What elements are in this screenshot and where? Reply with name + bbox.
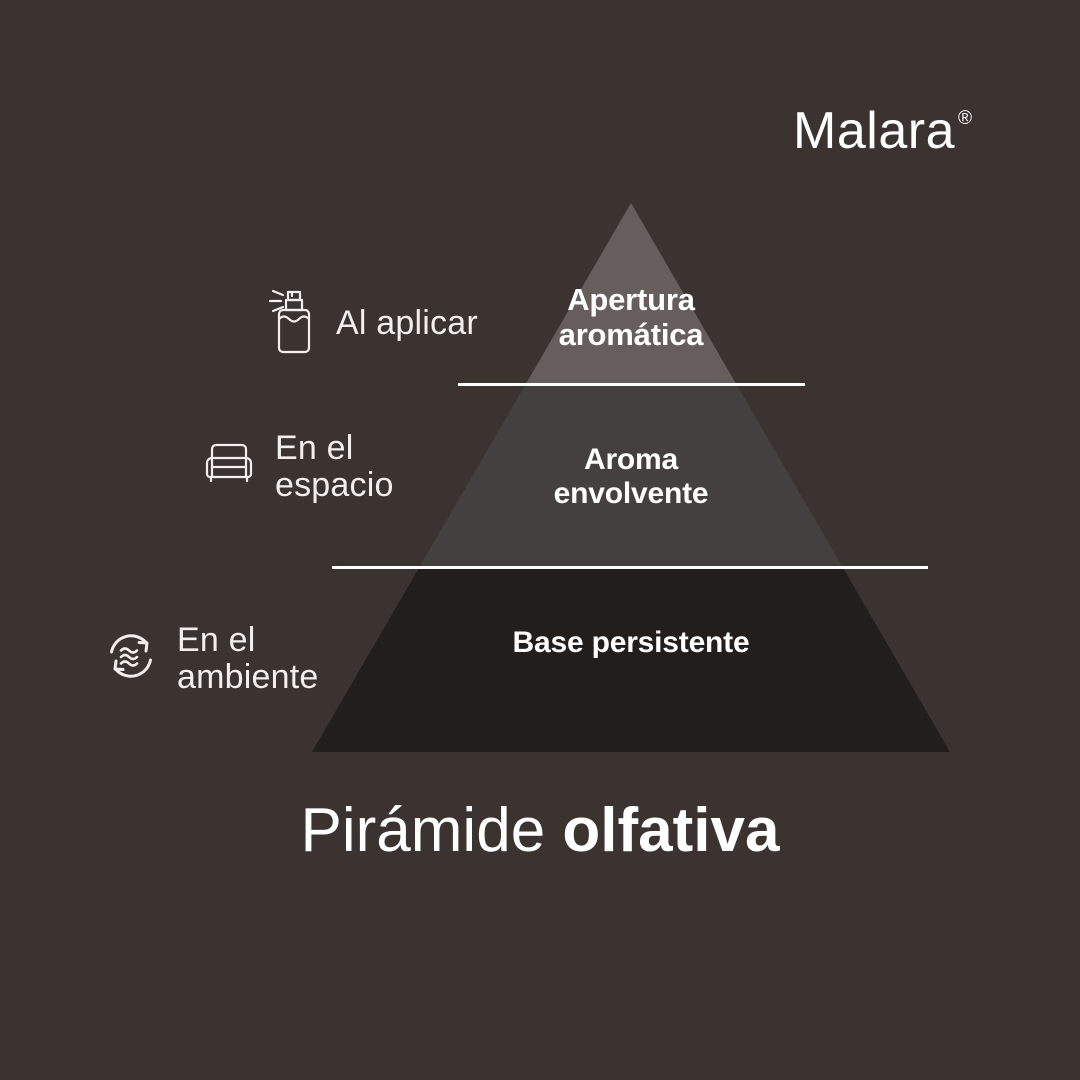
air-cycle-icon xyxy=(103,628,159,689)
page-title: Pirámide olfativa xyxy=(0,800,1080,862)
stage-label-en-el-espacio: En el espacio xyxy=(275,430,394,503)
infographic-canvas: Malara ® Apertura aromática Aroma envolv… xyxy=(0,0,1080,1080)
pyramid-svg xyxy=(0,0,1080,1080)
olfactory-pyramid xyxy=(0,0,1080,1080)
spray-bottle-icon xyxy=(266,286,318,361)
band-caption-top: Apertura aromática xyxy=(431,283,831,352)
band-divider-upper xyxy=(458,383,805,386)
pyramid-band-base xyxy=(280,567,980,767)
stage-item-en-el-espacio: En el espacio xyxy=(201,430,394,503)
stage-label-en-el-ambiente: En el ambiente xyxy=(177,622,318,695)
stage-item-en-el-ambiente: En el ambiente xyxy=(103,622,318,695)
stage-label-al-aplicar: Al aplicar xyxy=(336,305,478,342)
armchair-icon xyxy=(201,436,257,497)
band-caption-base: Base persistente xyxy=(411,626,851,660)
page-title-light: Pirámide xyxy=(301,796,563,865)
band-divider-lower xyxy=(332,566,928,569)
page-title-bold: olfativa xyxy=(562,796,779,865)
band-caption-middle: Aroma envolvente xyxy=(431,443,831,510)
stage-item-al-aplicar: Al aplicar xyxy=(266,286,478,361)
